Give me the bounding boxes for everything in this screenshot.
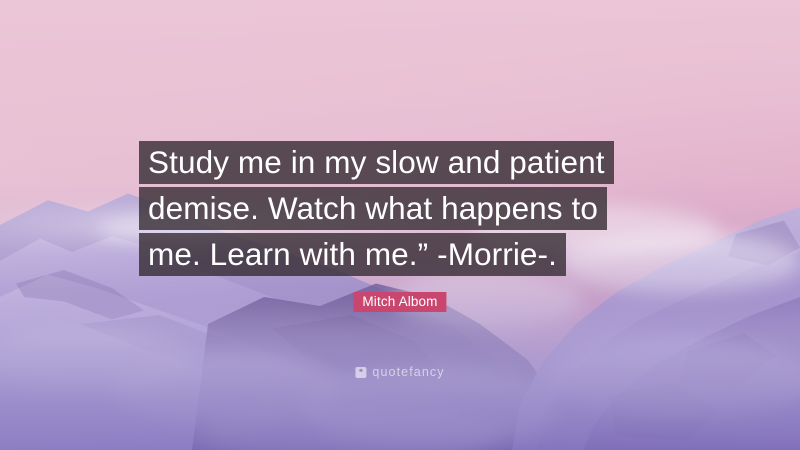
author-badge: Mitch Albom [353,292,446,312]
quote-line-3: me. Learn with me.” -Morrie-. [139,233,566,276]
quotefancy-logo-icon: ❝ [355,367,366,378]
quote-poster: Study me in my slow and patient demise. … [0,0,800,450]
quote-text-block: Study me in my slow and patient demise. … [139,141,699,279]
quote-line-1: Study me in my slow and patient [139,141,614,184]
watermark-brand-label: quotefancy [372,366,444,379]
quote-line-2: demise. Watch what happens to [139,187,607,230]
watermark: ❝ quotefancy [355,366,444,379]
